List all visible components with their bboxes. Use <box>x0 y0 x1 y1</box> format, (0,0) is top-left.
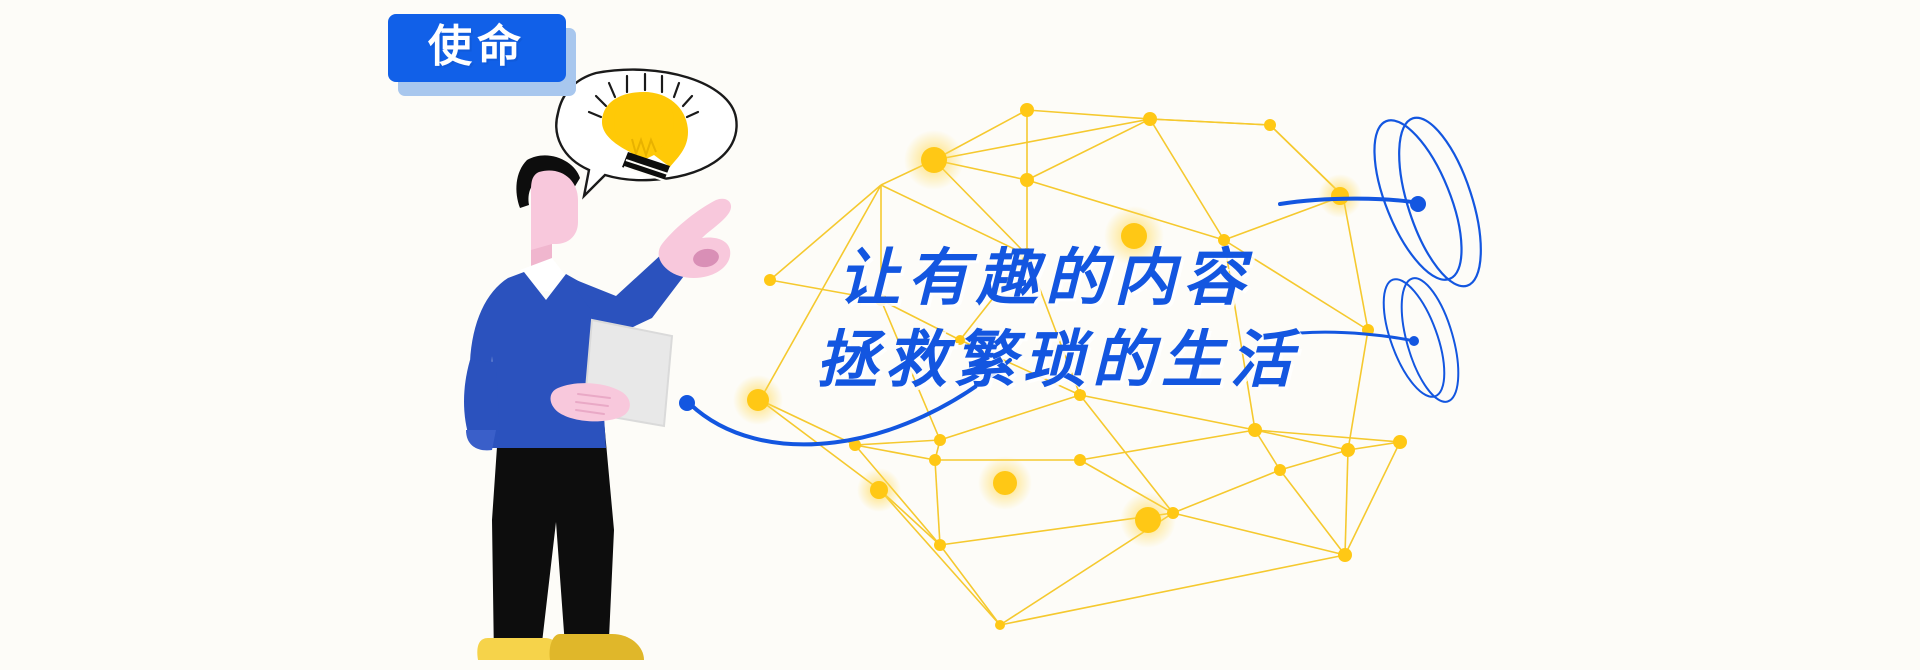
headline-line-1: 让有趣的内容 <box>838 238 1478 320</box>
badge-label: 使命 <box>428 25 526 69</box>
mission-banner: 使命 让有趣的内容 拯救繁琐的生活 <box>0 0 1920 670</box>
lightbulb-idea-bubble <box>556 70 736 196</box>
headline-line-2: 拯救繁琐的生活 <box>816 320 1478 402</box>
badge-body: 使命 <box>388 14 566 82</box>
headline: 让有趣的内容 拯救繁琐的生活 <box>838 238 1478 402</box>
mission-badge: 使命 <box>388 14 578 102</box>
